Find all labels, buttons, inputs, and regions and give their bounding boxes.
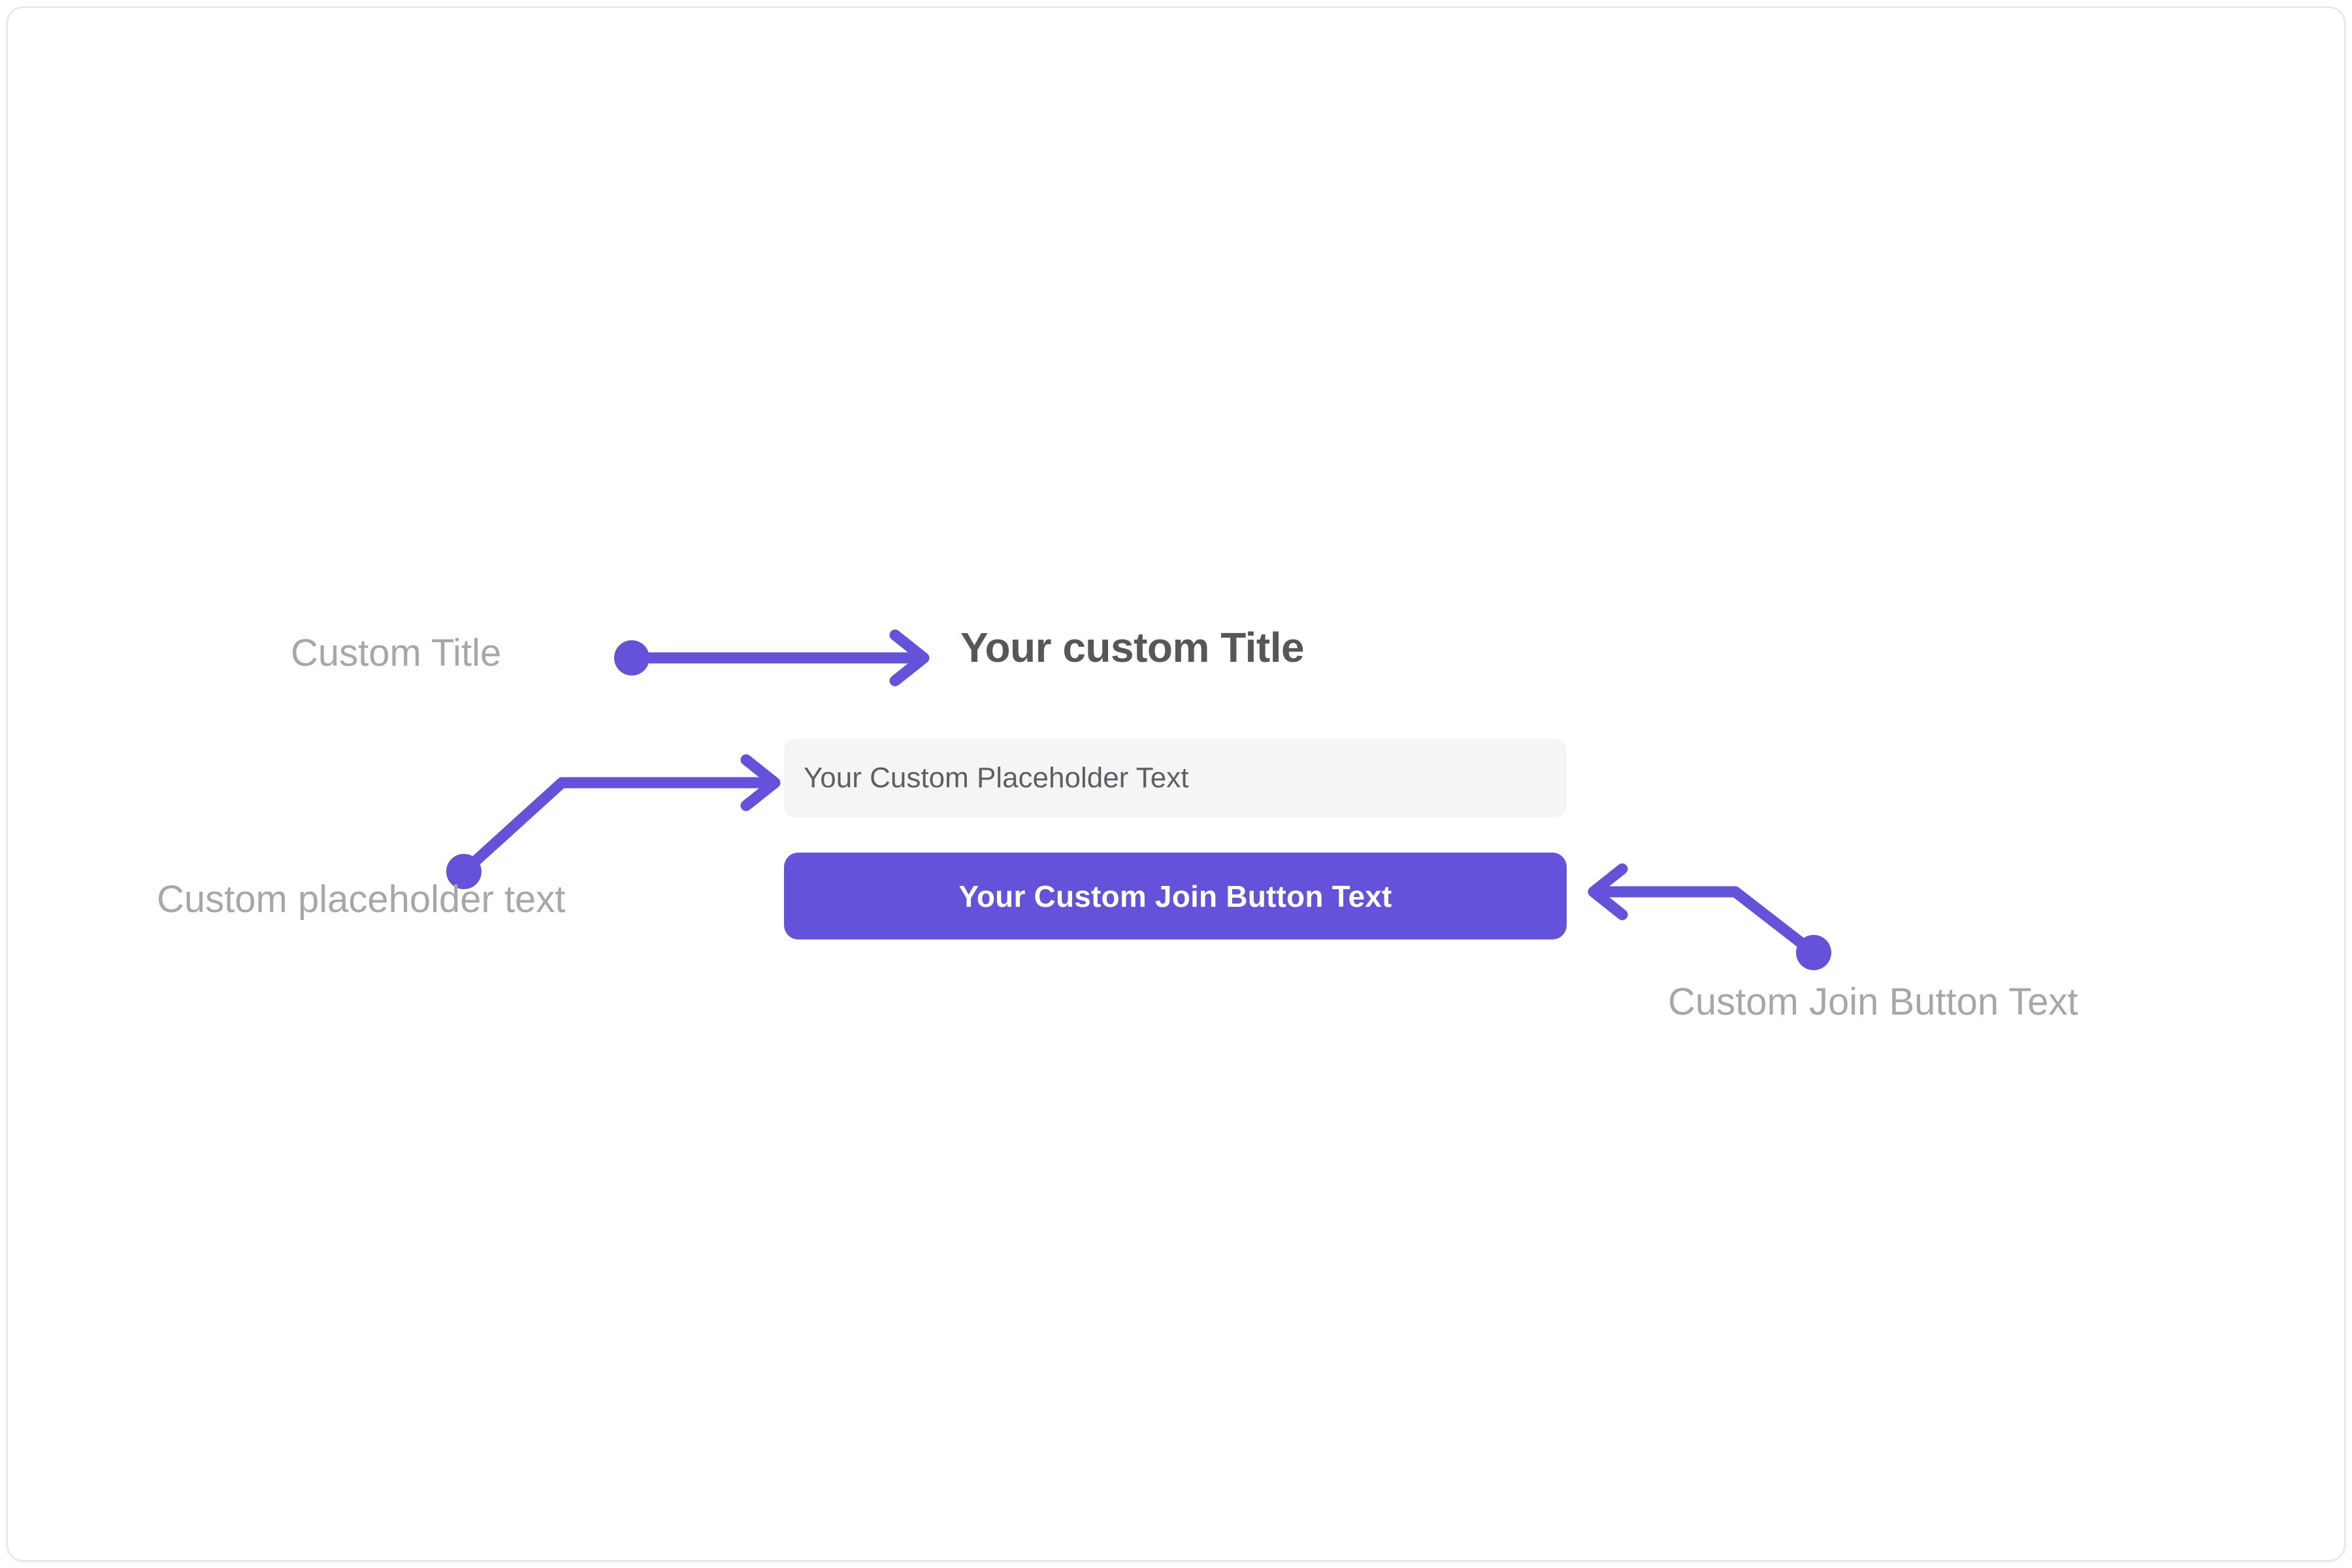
annotation-label-custom-join-button: Custom Join Button Text <box>1668 981 2078 1023</box>
screenshot-stage: Your custom Title Your Custom Join Butto… <box>0 0 2352 1568</box>
widget-placeholder-input[interactable] <box>784 739 1567 817</box>
annotation-label-custom-title: Custom Title <box>291 632 501 674</box>
widget-title: Your custom Title <box>960 624 1304 672</box>
widget-join-button[interactable]: Your Custom Join Button Text <box>784 853 1567 939</box>
annotation-label-custom-placeholder: Custom placeholder text <box>157 879 565 921</box>
